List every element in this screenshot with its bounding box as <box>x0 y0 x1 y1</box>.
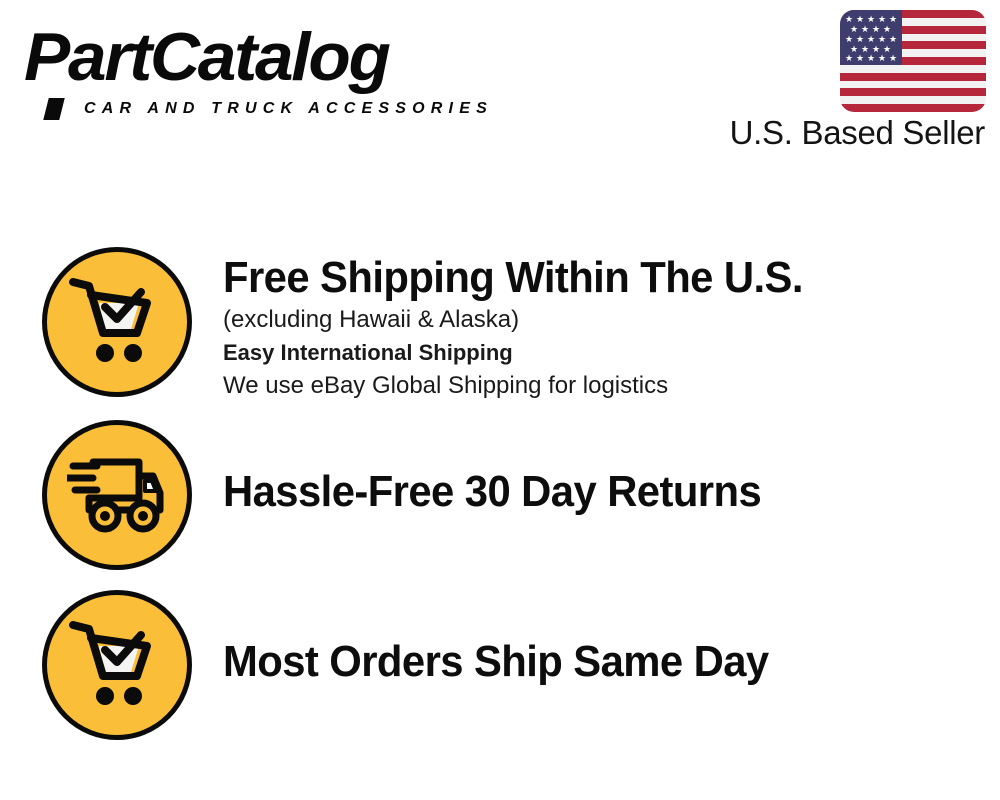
feature-subline: (excluding Hawaii & Alaska) <box>223 303 983 336</box>
feature-text-block: Free Shipping Within The U.S. (excluding… <box>223 253 983 402</box>
flag-stripe <box>840 81 986 89</box>
feature-subline: We use eBay Global Shipping for logistic… <box>223 369 983 402</box>
feature-heading: Most Orders Ship Same Day <box>223 637 945 687</box>
feature-heading: Free Shipping Within The U.S. <box>223 253 945 303</box>
shopping-cart-check-icon <box>42 590 192 740</box>
flag-stripe <box>840 88 986 96</box>
feature-heading: Hassle-Free 30 Day Returns <box>223 467 945 517</box>
brand-wordmark: PartCatalog <box>24 22 389 92</box>
flag-canton: ★ ★ ★ ★ ★ ★ ★ ★ ★ ★ ★ ★ ★ ★ ★ ★ ★ ★ ★ ★ … <box>840 10 902 65</box>
feature-row: Hassle-Free 30 Day Returns <box>0 420 1000 570</box>
seller-origin-label: U.S. Based Seller <box>730 113 985 153</box>
flag-stripe <box>840 104 986 112</box>
brand-accent-mark <box>43 98 64 120</box>
us-flag-icon: ★ ★ ★ ★ ★ ★ ★ ★ ★ ★ ★ ★ ★ ★ ★ ★ ★ ★ ★ ★ … <box>840 10 986 112</box>
delivery-truck-icon <box>42 420 192 570</box>
flag-stripe <box>840 96 986 104</box>
flag-stripe <box>840 73 986 81</box>
feature-text-block: Hassle-Free 30 Day Returns <box>223 467 983 517</box>
feature-row: Free Shipping Within The U.S. (excluding… <box>0 247 1000 412</box>
brand-tagline: CAR AND TRUCK ACCESSORIES <box>84 100 493 118</box>
shopping-cart-check-icon <box>42 247 192 397</box>
feature-subline: Easy International Shipping <box>223 336 983 369</box>
brand-logo[interactable]: PartCatalog CAR AND TRUCK ACCESSORIES <box>24 22 494 117</box>
header-bar: PartCatalog CAR AND TRUCK ACCESSORIES ★ … <box>0 0 1000 170</box>
feature-text-block: Most Orders Ship Same Day <box>223 637 983 687</box>
flag-stripe <box>840 65 986 73</box>
feature-row: Most Orders Ship Same Day <box>0 590 1000 740</box>
